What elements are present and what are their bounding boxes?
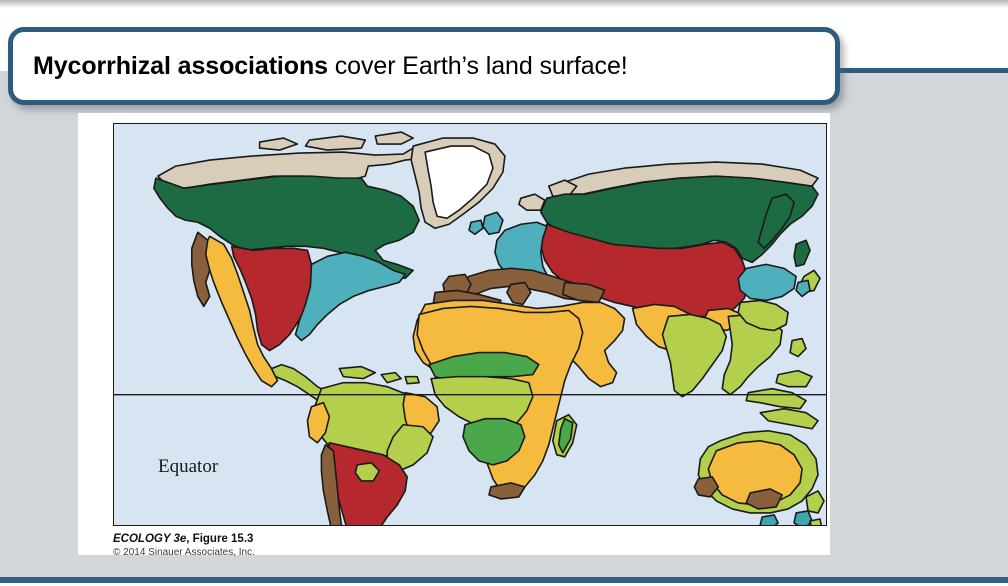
map-svg: [114, 124, 826, 525]
title-rest-text: cover Earth’s land surface!: [328, 52, 628, 80]
world-biome-map: Equator: [113, 123, 827, 526]
credit-source: ECOLOGY 3e, Figure 15.3: [113, 532, 613, 546]
figure-panel: Equator ECOLOGY 3e, Figure 15.3 © 2014 S…: [78, 113, 830, 555]
region-tropical-seasonal-nz-tip: [810, 519, 822, 525]
title-box: Mycorrhizal associations cover Earth’s l…: [8, 27, 840, 105]
top-gradient-strip: [0, 0, 1008, 8]
region-polar-tip-nz-south: [794, 511, 812, 525]
region-temperate-deciduous-british-isles: [483, 212, 503, 234]
figure-credit: ECOLOGY 3e, Figure 15.3 © 2014 Sinauer A…: [113, 532, 613, 559]
credit-source-italic: ECOLOGY 3e: [113, 533, 186, 545]
title-accent-rule: [833, 68, 1008, 73]
region-mountains-australia-se: [746, 489, 782, 509]
page-title: Mycorrhizal associations cover Earth’s l…: [13, 52, 628, 81]
credit-copyright: © 2014 Sinauer Associates, Inc.: [113, 546, 613, 559]
region-polar-tip-tasmania: [760, 515, 778, 525]
credit-source-rest: , Figure 15.3: [186, 533, 253, 545]
slide-root: Mycorrhizal associations cover Earth’s l…: [0, 0, 1008, 586]
region-caribbean-island-3: [405, 377, 419, 384]
title-bold-text: Mycorrhizal associations: [33, 52, 328, 80]
